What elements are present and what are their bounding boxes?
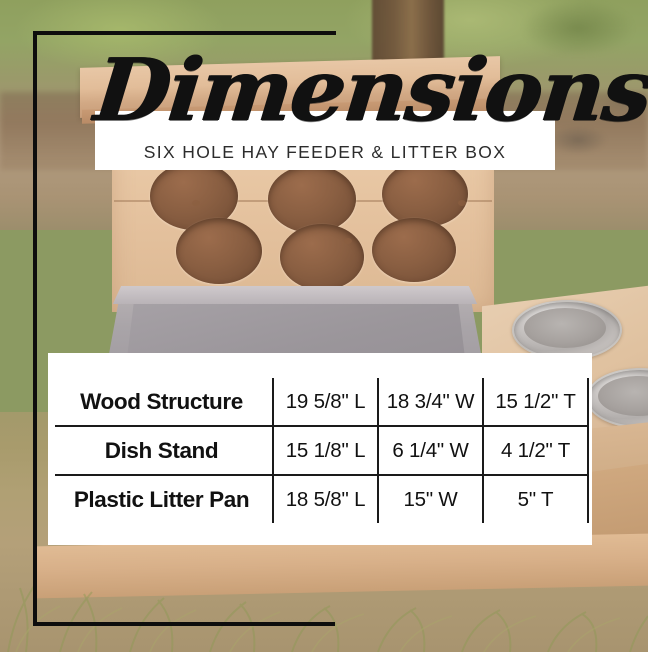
steel-bowl-interior (524, 308, 606, 348)
feeder-hole (268, 165, 356, 233)
row-width: 18 3/4" W (378, 378, 483, 426)
row-label: Dish Stand (55, 426, 273, 475)
feeder-hole (372, 218, 456, 282)
table-row: Wood Structure 19 5/8" L 18 3/4" W 15 1/… (55, 378, 588, 426)
wood-knot (192, 200, 200, 206)
dimensions-table: Wood Structure 19 5/8" L 18 3/4" W 15 1/… (55, 378, 589, 523)
row-thickness: 5" T (483, 475, 588, 523)
row-width: 15" W (378, 475, 483, 523)
wood-knot (458, 200, 466, 206)
row-thickness: 4 1/2" T (483, 426, 588, 475)
frame-left-line (33, 31, 37, 626)
wood-knot (344, 238, 352, 244)
table-row: Plastic Litter Pan 18 5/8" L 15" W 5" T (55, 475, 588, 523)
frame-bottom-line (33, 622, 335, 626)
frame-top-line (33, 31, 336, 35)
table-row: Dish Stand 15 1/8" L 6 1/4" W 4 1/2" T (55, 426, 588, 475)
row-length: 19 5/8" L (273, 378, 378, 426)
row-label: Wood Structure (55, 378, 273, 426)
row-thickness: 15 1/2" T (483, 378, 588, 426)
feeder-hole (382, 161, 468, 227)
row-label: Plastic Litter Pan (55, 475, 273, 523)
feeder-hole (280, 224, 364, 290)
row-width: 6 1/4" W (378, 426, 483, 475)
page-title: Dimensions (91, 48, 560, 134)
dimensions-graphic: Dimensions SIX HOLE HAY FEEDER & LITTER … (0, 0, 648, 652)
page-subtitle: SIX HOLE HAY FEEDER & LITTER BOX (95, 142, 555, 163)
row-length: 18 5/8" L (273, 475, 378, 523)
litter-pan-rim (88, 286, 502, 304)
row-length: 15 1/8" L (273, 426, 378, 475)
feeder-hole (176, 218, 262, 284)
